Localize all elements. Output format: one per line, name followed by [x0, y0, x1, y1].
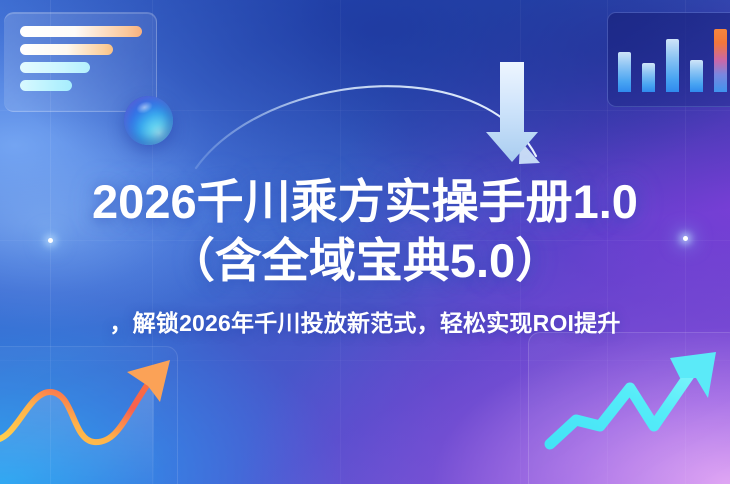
title-line-2: （含全域宝典5.0） [0, 231, 730, 290]
curved-arc-arrow [196, 86, 536, 168]
title-line-1: 2026千川乘方实操手册1.0 [92, 175, 638, 228]
orange-trend-line [0, 344, 224, 484]
cyan-trend-arrow [534, 334, 730, 484]
trend-right-path [550, 368, 694, 444]
page-title: 2026千川乘方实操手册1.0 （含全域宝典5.0） [0, 172, 730, 290]
promo-banner: 2026千川乘方实操手册1.0 （含全域宝典5.0） ，解锁2026年千川投放新… [0, 0, 730, 484]
